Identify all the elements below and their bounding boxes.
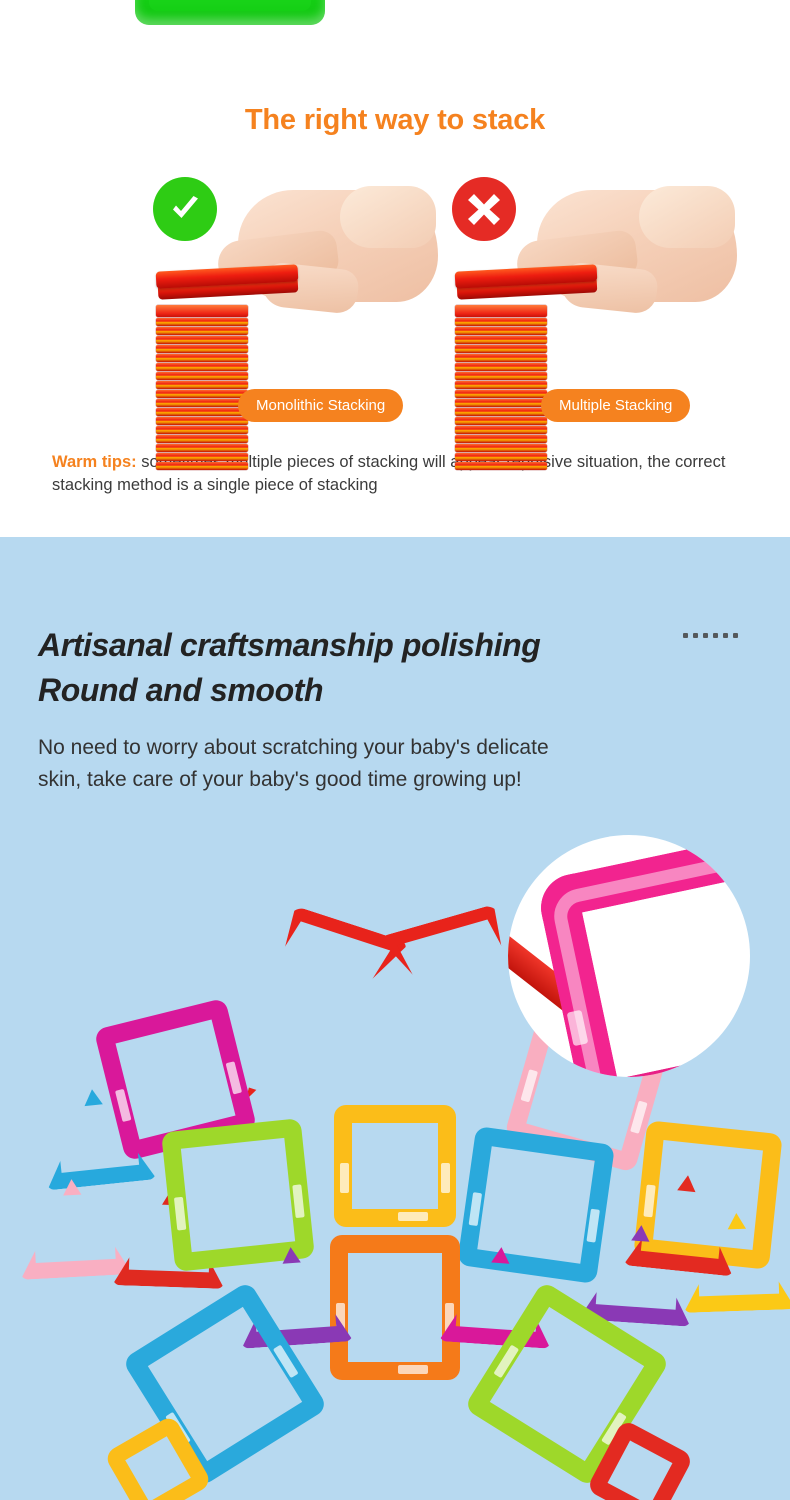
- magnified-corner-inset: [508, 835, 750, 1077]
- tile-square-cyan-right: [457, 1126, 615, 1284]
- x-icon: [452, 177, 516, 241]
- product-detail-page: The right way to stack: [0, 0, 790, 1500]
- craftsmanship-subtext: No need to worry about scratching your b…: [38, 732, 738, 796]
- stacking-section-title: The right way to stack: [0, 104, 790, 137]
- craftsmanship-heading: Artisanal craftsmanship polishing Round …: [38, 623, 688, 713]
- craftsmanship-subtext-line1: No need to worry about scratching your b…: [38, 732, 738, 764]
- tile-triangle-pink: [16, 1176, 133, 1280]
- hand-illustration-good: [190, 180, 436, 330]
- craftsmanship-subtext-line2: skin, take care of your baby's good time…: [38, 764, 738, 796]
- craftsmanship-section: Artisanal craftsmanship polishing Round …: [0, 537, 790, 1500]
- label-monolithic-stacking: Monolithic Stacking: [238, 389, 403, 422]
- tile-square-green: [161, 1118, 315, 1272]
- stacking-instruction-section: The right way to stack: [0, 0, 790, 537]
- warm-tips-body: sometimes multiple pieces of stacking wi…: [52, 453, 725, 494]
- craftsmanship-heading-line2: Round and smooth: [38, 668, 688, 713]
- green-tile-crop-image: [135, 0, 325, 25]
- check-icon: [153, 177, 217, 241]
- hand-illustration-bad: [489, 180, 735, 330]
- tile-square-orange-center: [330, 1235, 460, 1380]
- dots-decoration-icon: [683, 633, 738, 638]
- tile-square-yellow-center: [334, 1105, 456, 1227]
- warm-tips-label: Warm tips:: [52, 453, 137, 471]
- craftsmanship-heading-line1: Artisanal craftsmanship polishing: [38, 623, 688, 668]
- label-multiple-stacking: Multiple Stacking: [541, 389, 690, 422]
